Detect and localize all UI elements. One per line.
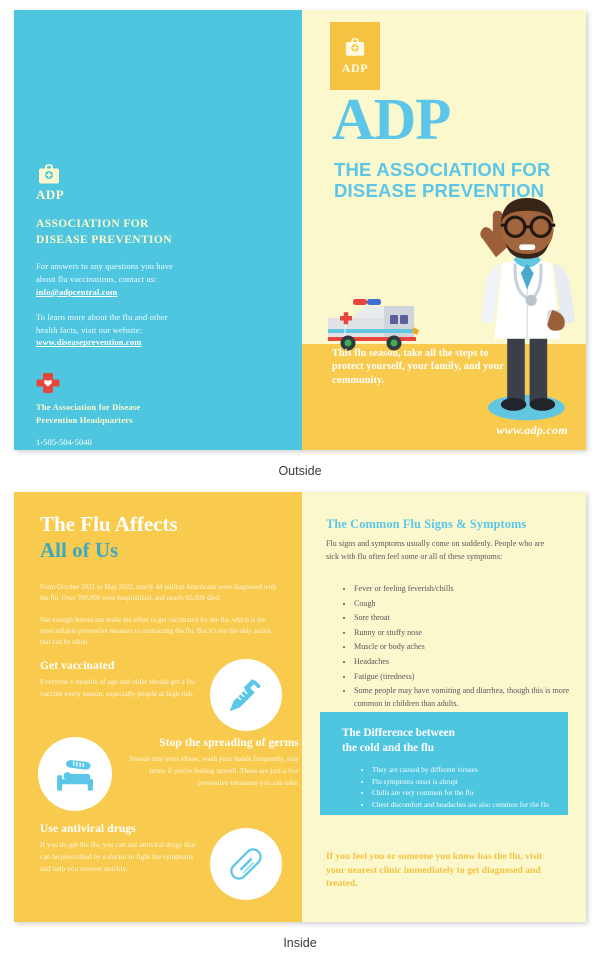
caption-inside: Inside [0, 936, 600, 950]
cover-logo-box: ADP [330, 22, 380, 90]
list-item: Chills are very common for the flu [372, 787, 560, 799]
medical-bag-icon [343, 36, 367, 58]
ambulance-illustration [320, 296, 428, 354]
tip-get-vaccinated: Get vaccinated Everyone 6 months of age … [40, 660, 200, 700]
syringe-icon [226, 675, 266, 715]
list-item: Fever or feeling feverish/chills [354, 582, 570, 595]
website-intro-line2: health facts, visit our website: [36, 325, 142, 335]
cover-title: ADP [332, 92, 450, 147]
hq-address: 1-505-504-5040 1050 Shoreline Drive Sant… [36, 436, 276, 450]
back-logo-text: ADP [36, 187, 276, 203]
hq-name-line2: Prevention Headquarters [36, 415, 133, 425]
tip-title: Stop the spreading of germs [119, 737, 299, 749]
tip-body: Everyone 6 months of age and older shoul… [40, 676, 200, 700]
difference-heading-line2: the cold and the flu [342, 742, 434, 754]
tip-title: Use antiviral drugs [40, 823, 205, 835]
contact-block: For answers to any questions you have ab… [36, 260, 276, 299]
tip-icon-circle-vaccine [210, 659, 282, 731]
pill-capsule-icon [226, 844, 266, 884]
medical-bag-icon [36, 162, 62, 186]
list-item: Sore throat [354, 611, 570, 624]
cover-tagline: This flu season, take all the steps to p… [332, 347, 522, 388]
cover-logo-text: ADP [342, 61, 368, 76]
outside-cover-panel: ADP ADP THE ASSOCIATION FOR DISEASE PREV… [302, 10, 586, 450]
website-intro-line1: To learn more about the flu and other [36, 312, 168, 322]
brochure-page: ADP ASSOCIATION FOR DISEASE PREVENTION F… [0, 0, 600, 967]
list-item: Flu symptoms onset is abrupt [372, 776, 560, 788]
brochure-outside-sheet: ADP ASSOCIATION FOR DISEASE PREVENTION F… [14, 10, 586, 450]
list-item: Muscle or body aches [354, 640, 570, 653]
hq-name: The Association for Disease Prevention H… [36, 401, 276, 426]
tip-icon-circle-antiviral [210, 828, 282, 900]
cross-heart-icon [36, 371, 60, 395]
inside-right-panel: The Common Flu Signs & Symptoms Flu sign… [302, 492, 586, 922]
list-item: Chest discomfort and headaches are also … [372, 799, 560, 811]
tip-stop-spreading-germs: Stop the spreading of germs Sneeze into … [119, 737, 299, 789]
back-panel-content: ADP ASSOCIATION FOR DISEASE PREVENTION F… [36, 162, 276, 450]
difference-heading-line1: The Difference between [342, 727, 455, 739]
cold-vs-flu-box: The Difference between the cold and the … [320, 712, 568, 815]
hq-name-line1: The Association for Disease [36, 402, 140, 412]
outside-back-panel: ADP ASSOCIATION FOR DISEASE PREVENTION F… [14, 10, 302, 450]
bed-thermometer-icon [52, 751, 98, 797]
list-item: They are caused by different viruses [372, 764, 560, 776]
list-item: Runny or stuffy nose [354, 626, 570, 639]
flu-heading-line1: The Flu Affects [40, 512, 178, 536]
cover-url[interactable]: www.adp.com [496, 423, 568, 438]
difference-heading: The Difference between the cold and the … [342, 726, 455, 755]
clinic-cta: If you feel you or someone you know has … [326, 850, 558, 891]
website-block: To learn more about the flu and other he… [36, 311, 276, 350]
tip-title: Get vaccinated [40, 660, 200, 672]
tip-use-antiviral-drugs: Use antiviral drugs If you do get the fl… [40, 823, 205, 875]
hq-phone: 1-505-504-5040 [36, 437, 92, 447]
list-item: Some people may have vomiting and diarrh… [354, 684, 570, 710]
contact-intro-line1: For answers to any questions you have [36, 261, 173, 271]
back-org-line2: DISEASE PREVENTION [36, 234, 172, 246]
back-org-line1: ASSOCIATION FOR [36, 218, 149, 230]
website-link[interactable]: www.diseaseprevention.com [36, 336, 141, 349]
tip-icon-circle-germs [38, 737, 112, 811]
symptoms-heading: The Common Flu Signs & Symptoms [326, 517, 526, 532]
flu-paragraph-2: Not enough Americans make the effort to … [40, 615, 278, 649]
flu-affects-heading: The Flu Affects All of Us [40, 512, 178, 563]
symptoms-intro: Flu signs and symptoms usually come on s… [326, 537, 558, 563]
caption-outside: Outside [0, 464, 600, 478]
list-item: Headaches [354, 655, 570, 668]
difference-list: They are caused by different virusesFlu … [360, 764, 560, 811]
list-item: Fatigue (tiredness) [354, 670, 570, 683]
tip-body: Sneeze into your elbow, wash your hands … [119, 753, 299, 789]
flu-paragraph-1: From October 2021 to May 2022, nearly 44… [40, 582, 278, 604]
flu-heading-line2: All of Us [40, 538, 178, 564]
brochure-inside-sheet: The Flu Affects All of Us From October 2… [14, 492, 586, 922]
list-item: Cough [354, 597, 570, 610]
tip-body: If you do get the flu, you can use antiv… [40, 839, 205, 875]
symptoms-list: Fever or feeling feverish/chillsCoughSor… [342, 582, 570, 712]
contact-intro-line2: about flu vaccinations, contact us: [36, 274, 157, 284]
email-link[interactable]: info@adpcentral.com [36, 286, 117, 299]
back-org-name: ASSOCIATION FOR DISEASE PREVENTION [36, 217, 276, 248]
